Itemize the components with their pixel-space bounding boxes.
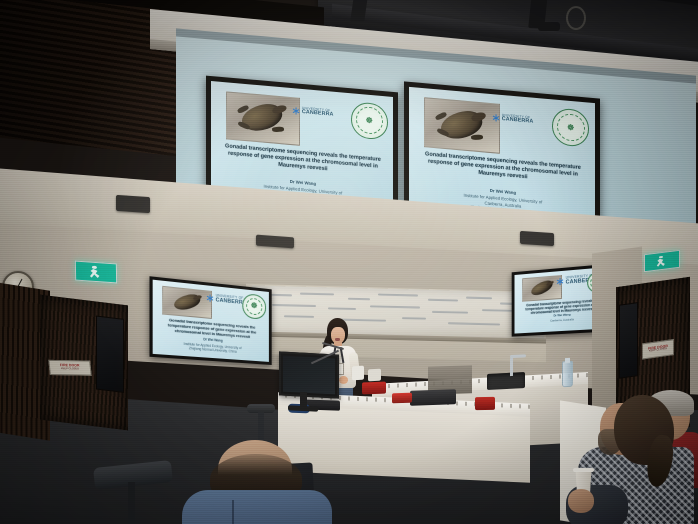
lecture-theatre-photo: UNIVERSITY OF CANBERRA ☸ Gonadal transcr…: [0, 0, 698, 524]
coffee-cup-lid: [573, 468, 594, 472]
projector-lens-icon: [538, 22, 560, 31]
denim-shirt: [182, 490, 332, 524]
institute-seal-icon: ☸: [552, 107, 589, 148]
lab-equipment-red: [362, 382, 386, 395]
exit-sign-icon: [75, 261, 117, 284]
water-bottle: [562, 361, 573, 388]
university-logo: UNIVERSITY OF CANBERRA: [207, 293, 244, 307]
slide-content: UNIVERSITY OF CANBERRA ☸ Gonadal transcr…: [153, 280, 269, 362]
turtle-photo-icon: [226, 91, 301, 146]
seal-glyph: ☸: [567, 123, 574, 132]
auditorium-chair: [94, 454, 174, 524]
institute-seal-icon: ☸: [351, 101, 388, 141]
seal-glyph: ☸: [251, 302, 258, 310]
uc-snowflake-icon: [557, 278, 564, 286]
logo-line-large: CANBERRA: [302, 110, 334, 118]
presenter-confidence-monitor: [279, 351, 339, 398]
uc-snowflake-icon: [493, 114, 500, 122]
uc-snowflake-icon: [207, 294, 214, 302]
lab-equipment-white: [368, 369, 381, 382]
speaker-icon: [116, 195, 150, 213]
av-equipment-dark: [410, 389, 456, 406]
uc-snowflake-icon: [293, 107, 300, 115]
monitor-bracket: [0, 0, 8, 14]
ceiling-fixture-icon: [566, 6, 586, 30]
university-logo: UNIVERSITY OF CANBERRA: [493, 107, 553, 132]
slide-title: Gonadal transcriptome sequencing reveals…: [422, 151, 584, 186]
fire-door-sign: FIRE DOOR KEEP CLOSED: [642, 339, 674, 359]
audience-hand: [568, 489, 594, 513]
audience-member-denim: [186, 438, 354, 524]
seal-glyph: ☸: [366, 117, 373, 126]
door-sign-sub: KEEP CLOSED: [61, 368, 79, 371]
side-monitor-left: UNIVERSITY OF CANBERRA ☸ Gonadal transcr…: [149, 276, 271, 365]
turtle-leg-shape: [271, 127, 283, 132]
tap-icon: [510, 358, 513, 376]
university-logo: UNIVERSITY OF CANBERRA: [293, 101, 351, 125]
presenter-mouth: [335, 338, 340, 341]
university-logo: UNIVERSITY OF CANBERRA: [557, 275, 588, 287]
door-left[interactable]: FIRE DOOR KEEP CLOSED: [40, 295, 128, 431]
speaker-icon: [520, 231, 554, 246]
presenter-hand: [339, 376, 348, 384]
audience-member-ponytail: [544, 393, 694, 524]
logo-line-large: CANBERRA: [502, 117, 534, 125]
turtle-leg-shape: [471, 134, 483, 139]
turtle-photo-icon: [424, 97, 500, 153]
door-window: [619, 302, 638, 379]
door-window: [96, 315, 124, 392]
door-sign-sub: KEEP CLOSED: [649, 348, 667, 353]
fire-door-sign: FIRE DOOR KEEP CLOSED: [48, 360, 91, 376]
sink: [487, 372, 525, 390]
lab-equipment-white: [352, 366, 364, 381]
turtle-photo-icon: [162, 286, 212, 319]
slide-title: Gonadal transcriptome sequencing reveals…: [224, 144, 382, 178]
lab-equipment-red: [475, 397, 495, 410]
lab-equipment-red: [392, 393, 412, 404]
turtle-photo-icon: [522, 275, 562, 301]
institute-seal-icon: ☸: [243, 293, 266, 319]
